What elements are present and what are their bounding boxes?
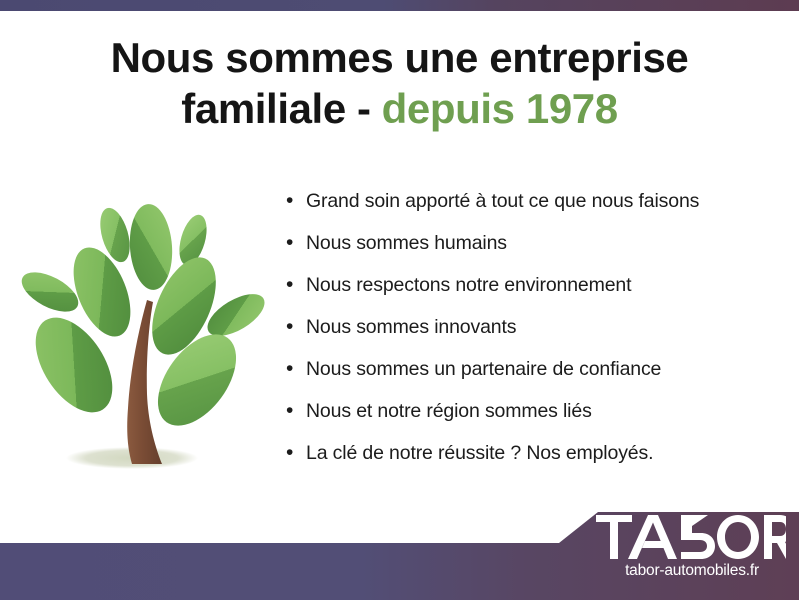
list-item-label: La clé de notre réussite ? Nos employés.	[306, 442, 653, 465]
title-line-2: familiale -depuis 1978	[0, 85, 799, 132]
bullet-point-icon: •	[286, 400, 306, 421]
page-title: Nous sommes une entreprise familiale -de…	[0, 34, 799, 132]
leaf-2	[127, 203, 175, 292]
bullet-point-icon: •	[286, 274, 306, 295]
list-item: • Nous respectons notre environnement	[286, 274, 766, 316]
logo-letter-t	[596, 515, 632, 559]
bullet-point-icon: •	[286, 442, 306, 463]
list-item-label: Nous respectons notre environnement	[306, 274, 631, 297]
list-item: • Nous sommes innovants	[286, 316, 766, 358]
bullet-point-icon: •	[286, 316, 306, 337]
logo-website-url[interactable]: tabor-automobiles.fr	[596, 562, 788, 580]
logo-letter-o	[717, 515, 759, 559]
title-accent-since-1978: depuis 1978	[382, 85, 618, 132]
title-line-1: Nous sommes une entreprise	[0, 34, 799, 81]
list-item-label: Nous et notre région sommes liés	[306, 400, 592, 423]
bullet-point-icon: •	[286, 190, 306, 211]
list-item: • Nous et notre région sommes liés	[286, 400, 766, 442]
tabor-logo[interactable]	[596, 515, 786, 559]
logo-letter-b	[681, 515, 715, 559]
top-accent-bar	[0, 0, 799, 11]
list-item-label: Grand soin apporté à tout ce que nous fa…	[306, 190, 699, 213]
list-item: • Nous sommes un partenaire de confiance	[286, 358, 766, 400]
list-item-label: Nous sommes innovants	[306, 316, 516, 339]
list-item-label: Nous sommes humains	[306, 232, 507, 255]
list-item: • La clé de notre réussite ? Nos employé…	[286, 442, 766, 484]
logo-letter-a	[628, 515, 677, 559]
list-item: • Grand soin apporté à tout ce que nous …	[286, 190, 766, 232]
list-item: • Nous sommes humains	[286, 232, 766, 274]
tree-illustration	[12, 182, 270, 482]
list-item-label: Nous sommes un partenaire de confiance	[306, 358, 661, 381]
bullet-point-icon: •	[286, 358, 306, 379]
logo-letter-r	[764, 515, 786, 559]
value-bullet-list: • Grand soin apporté à tout ce que nous …	[286, 190, 766, 484]
slide-canvas: Nous sommes une entreprise familiale -de…	[0, 0, 799, 600]
title-line-2-plain: familiale -	[181, 85, 370, 132]
bullet-point-icon: •	[286, 232, 306, 253]
